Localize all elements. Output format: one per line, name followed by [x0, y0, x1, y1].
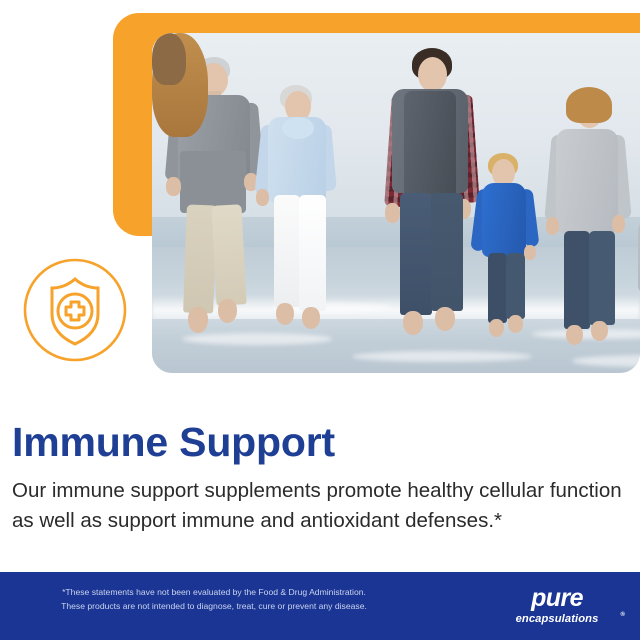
logo-wordmark: pure — [496, 586, 618, 611]
immune-support-card: Immune Support Our immune support supple… — [0, 0, 640, 640]
hair-front — [566, 87, 612, 123]
head — [418, 57, 447, 92]
leg-left — [564, 231, 590, 329]
footer-bar: *These statements have not been evaluate… — [0, 572, 640, 640]
leg-left — [274, 195, 300, 307]
disclaimer-line-2: These products are not intended to diagn… — [14, 600, 414, 614]
leg-right — [211, 204, 246, 305]
leg-right — [589, 231, 615, 325]
hero-photo — [152, 33, 640, 373]
page-title: Immune Support — [12, 421, 335, 464]
leg-left — [400, 193, 432, 315]
hand-right — [612, 215, 625, 233]
hand-left — [385, 203, 400, 223]
foot-right — [302, 307, 320, 329]
foot-left — [566, 325, 583, 345]
foot-left — [489, 319, 504, 337]
water-ripple — [182, 333, 332, 345]
disclaimer-line-1: *These statements have not been evaluate… — [14, 586, 414, 600]
leg-right — [431, 193, 463, 311]
foot-left — [276, 303, 294, 325]
leg-left — [488, 253, 507, 323]
beach-scene — [152, 33, 640, 373]
blue-jacket — [482, 183, 526, 257]
foot-right — [218, 299, 237, 323]
registered-trademark-icon: ® — [620, 612, 625, 618]
hand-right — [524, 245, 536, 260]
foot-right — [591, 321, 608, 341]
hand-left — [546, 217, 559, 235]
page-description: Our immune support supplements promote h… — [12, 476, 624, 536]
hand-left — [166, 177, 181, 196]
foot-left — [403, 311, 423, 335]
pure-encapsulations-logo[interactable]: pure encapsulations® — [496, 586, 618, 630]
shield-cross-icon — [23, 258, 127, 362]
leg-right — [299, 195, 326, 311]
foot-right — [435, 307, 455, 331]
person-girl — [152, 33, 186, 85]
logo-subtext-label: encapsulations — [516, 613, 599, 625]
quilted-vest — [404, 91, 456, 199]
leg-right — [506, 253, 525, 319]
collar — [282, 117, 314, 139]
foot-left — [188, 307, 208, 333]
grey-cardigan — [556, 129, 618, 233]
hand-left — [256, 189, 269, 206]
hair — [152, 33, 186, 85]
disclaimer: *These statements have not been evaluate… — [14, 586, 414, 614]
foot-right — [508, 315, 523, 333]
water-ripple — [352, 351, 532, 362]
logo-subtext: encapsulations® — [496, 613, 618, 625]
